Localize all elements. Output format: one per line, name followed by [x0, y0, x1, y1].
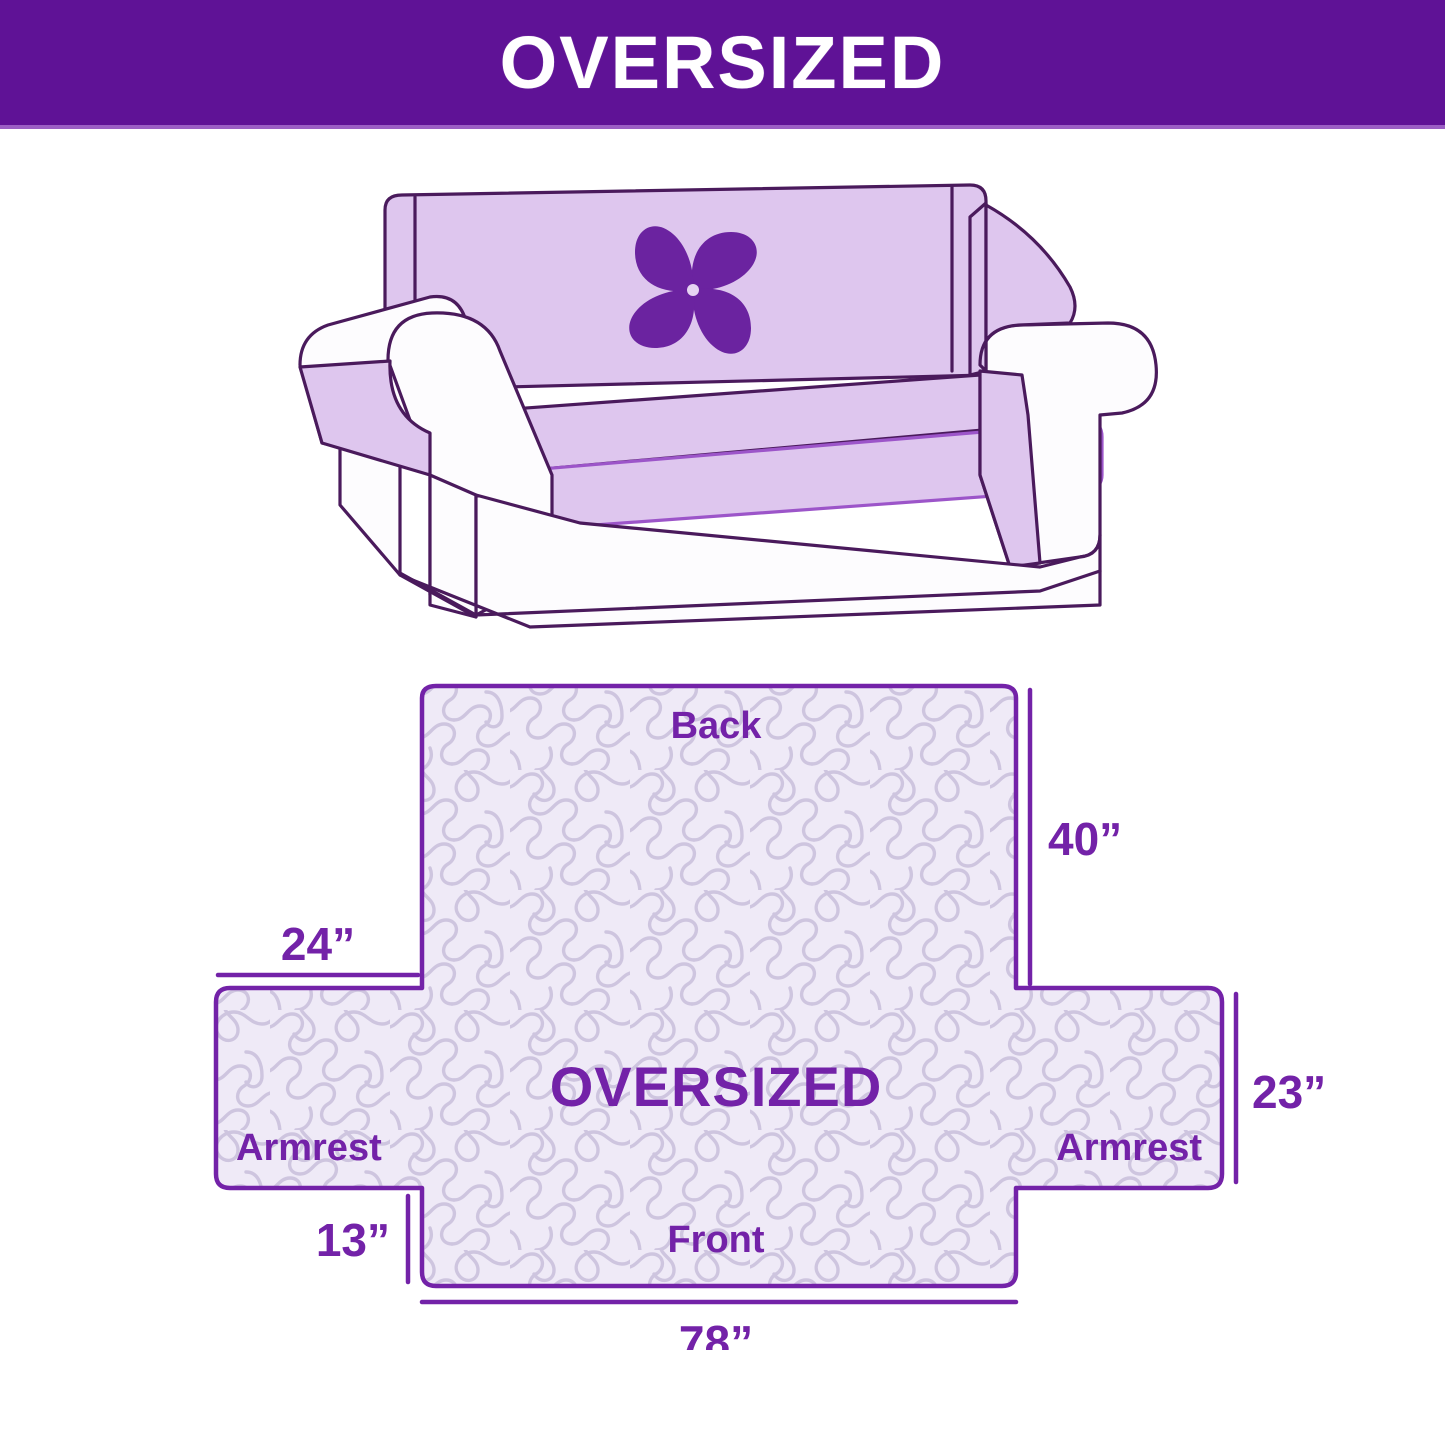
label-back: Back	[671, 705, 763, 747]
dimension-label-23: 23”	[1252, 1066, 1326, 1118]
sofa-illustration: .ln { fill:none; stroke:#4A1A5C; stroke-…	[280, 175, 1200, 635]
label-front: Front	[667, 1219, 764, 1261]
measurement-diagram: 24” 40” 23” 13” 78” Back Armrest Armrest…	[150, 650, 1330, 1350]
label-armrest-right: Armrest	[1056, 1127, 1202, 1169]
cover-outline-shape	[216, 686, 1222, 1286]
label-center-size: OVERSIZED	[550, 1055, 883, 1118]
dimension-label-40: 40”	[1048, 813, 1122, 865]
header-banner: OVERSIZED	[0, 0, 1445, 125]
dimension-label-13: 13”	[316, 1214, 390, 1266]
measurement-diagram-svg: 24” 40” 23” 13” 78” Back Armrest Armrest…	[150, 650, 1330, 1350]
page-root: OVERSIZED .ln { fill:none; stroke:#4A1A5…	[0, 0, 1445, 1445]
page-title: OVERSIZED	[500, 26, 946, 100]
banner-divider	[0, 125, 1445, 129]
dimension-label-78: 78”	[679, 1316, 753, 1350]
label-armrest-left: Armrest	[236, 1127, 382, 1169]
sofa-drawing-svg: .ln { fill:none; stroke:#4A1A5C; stroke-…	[280, 175, 1200, 635]
pinwheel-hub	[687, 284, 699, 296]
dimension-label-24: 24”	[281, 918, 355, 970]
